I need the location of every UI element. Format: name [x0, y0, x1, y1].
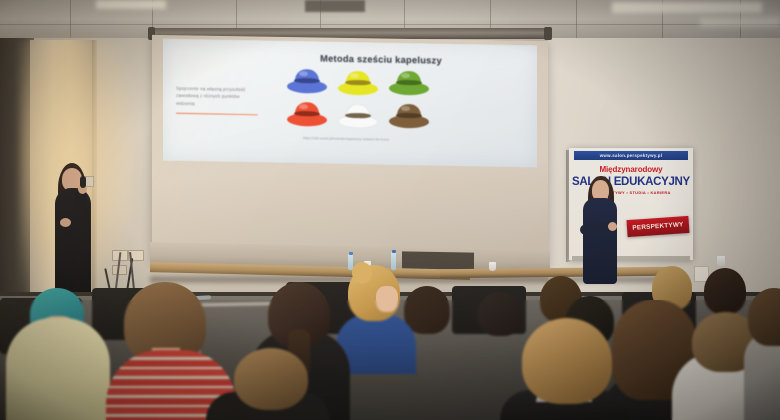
audience-ponytail: [352, 262, 372, 284]
ceiling-light: [700, 18, 780, 26]
audience-head: [404, 286, 450, 334]
presenter-right-arm: [580, 223, 611, 235]
brown-hat-icon: [389, 104, 429, 130]
audience-teal-hair-body: [6, 318, 110, 420]
banner-subline: PERSPEKTYWY • STUDIA • KARIERA: [569, 190, 693, 195]
wall-switch: [85, 176, 94, 187]
ceiling-light: [96, 0, 166, 9]
ceiling-vent: [305, 0, 365, 12]
cup: [717, 256, 725, 266]
roller-cap-right: [544, 27, 552, 40]
conference-room-photo: Metoda sześciu kapeluszy Spojrzenie na w…: [0, 0, 780, 420]
banner-url: www.salon.perspektywy.pl: [574, 151, 688, 160]
slide-title: Metoda sześciu kapeluszy: [271, 53, 491, 67]
yellow-hat-icon: [338, 71, 378, 97]
ceiling-light: [612, 2, 762, 13]
presenter-left-hand: [60, 218, 71, 227]
banner-headline-2: SALON EDUKACYJNY: [569, 176, 693, 188]
bottle-cap: [392, 250, 396, 253]
audience-front-head: [234, 348, 308, 410]
slide-source-url: https://vldi.umed.pl/metoda-kapeluszy-ed…: [303, 136, 453, 144]
microphone-icon: [80, 176, 86, 188]
bottle-cap: [349, 252, 353, 255]
banner-headline-1: Międzynarodowy: [569, 165, 693, 174]
presenter-right-hand: [608, 222, 617, 231]
audience-blond-man-head: [522, 318, 612, 404]
red-hat-icon: [287, 102, 327, 128]
blue-hat-icon: [287, 69, 327, 95]
cup: [489, 262, 496, 271]
green-hat-icon: [389, 71, 429, 97]
slide-accent-rule: [176, 113, 258, 116]
slide-caption: Spojrzenie na własną przyszłość zawodową…: [176, 85, 258, 109]
presenter-right-body: [583, 198, 617, 284]
projected-slide: Metoda sześciu kapeluszy Spojrzenie na w…: [163, 39, 537, 168]
six-hats-graphic: [285, 69, 435, 134]
audience-blonde-ponytail-face: [376, 286, 398, 312]
audience-head: [704, 268, 746, 314]
water-bottle: [391, 252, 396, 270]
white-hat-icon: [338, 104, 378, 130]
audience-head: [478, 292, 522, 336]
